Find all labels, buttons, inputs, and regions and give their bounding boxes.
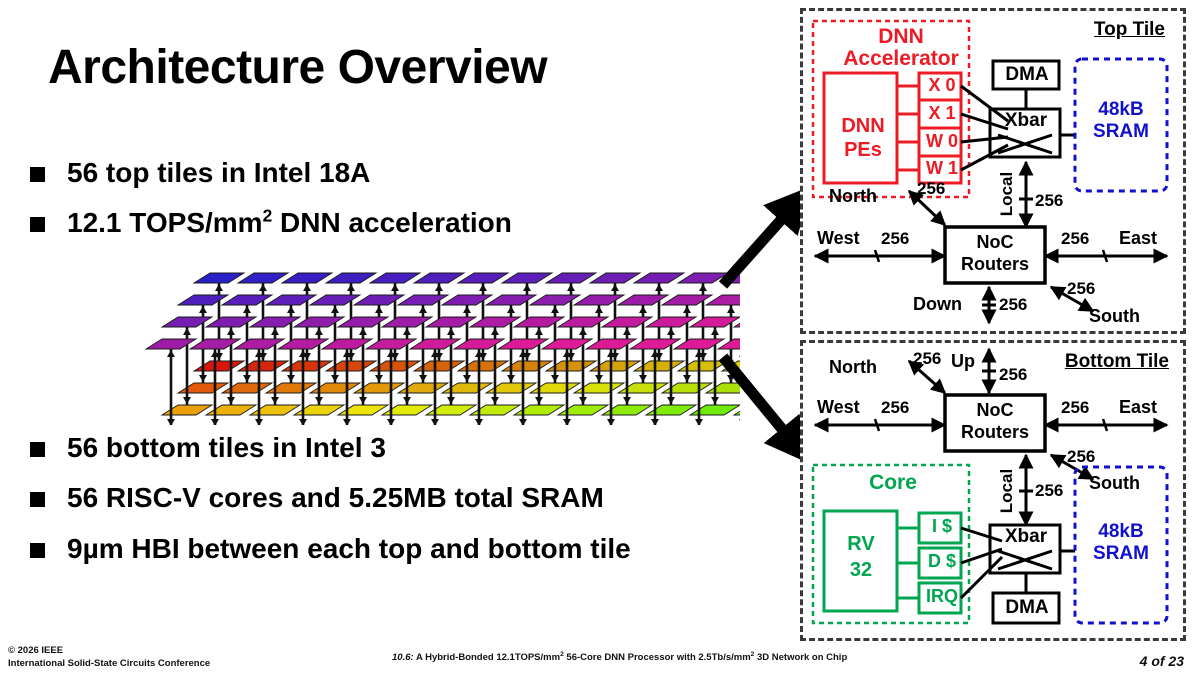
tile-array-illustration <box>60 265 740 425</box>
bullet-list-top: 56 top tiles in Intel 18A 12.1 TOPS/mm2 … <box>30 155 512 256</box>
hbi-arrowhead <box>595 375 603 382</box>
hbi-arrowhead <box>227 397 235 404</box>
hbi-arrowhead <box>167 419 175 425</box>
hbi-arrowhead <box>375 375 383 382</box>
hbi-arrowhead <box>623 328 631 335</box>
bullet-text: 12.1 TOPS/mm2 DNN acceleration <box>67 205 512 241</box>
top-tile-plate <box>586 339 636 349</box>
top-tile-plate <box>238 273 288 283</box>
top-tile-plate <box>442 295 492 305</box>
rv32-label-line2: 32 <box>825 559 897 582</box>
hbi-arrowhead <box>535 328 543 335</box>
hbi-arrowhead <box>331 375 339 382</box>
south-label: South <box>1089 473 1140 494</box>
hbi-arrowhead <box>623 397 631 404</box>
footer-copyright: © 2026 IEEE <box>8 645 210 658</box>
top-tile-plate <box>250 317 300 327</box>
dma-label: DMA <box>994 597 1060 619</box>
hbi-arrowhead <box>535 397 543 404</box>
footer-page-number: 4 of 23 <box>1140 653 1184 669</box>
hbi-arrowhead <box>359 328 367 335</box>
hbi-arrowhead <box>359 397 367 404</box>
hbi-arrowhead <box>303 284 311 291</box>
bottom-tile-plate <box>250 405 300 415</box>
hbi-arrowhead <box>387 419 395 425</box>
hbi-arrowhead <box>287 375 295 382</box>
bullet-text: 9µm HBI between each top and bottom tile <box>67 531 631 567</box>
top-tile-plate <box>194 273 244 283</box>
noc-routers-label-line2: Routers <box>945 254 1045 275</box>
top-tile-plate <box>178 295 228 305</box>
irq-label: IRQ <box>920 586 964 607</box>
top-tile-plate <box>278 339 328 349</box>
sram-label-line1: 48kB <box>1075 521 1167 543</box>
bottom-tile-plate <box>294 405 344 415</box>
hbi-arrowhead <box>667 397 675 404</box>
top-tile-plate <box>370 273 420 283</box>
top-tile-plate <box>498 339 548 349</box>
bullet-square-icon <box>30 167 45 182</box>
bullet-text: 56 RISC-V cores and 5.25MB total SRAM <box>67 480 604 516</box>
bottom-tile-plate <box>398 383 448 393</box>
hbi-arrowhead <box>667 328 675 335</box>
top-tile-plate <box>354 295 404 305</box>
hbi-arrowhead <box>215 284 223 291</box>
local-width-label: 256 <box>1035 191 1063 211</box>
bottom-tile-plate <box>238 361 288 371</box>
top-tile-plate <box>618 295 668 305</box>
sram-label-line2: SRAM <box>1075 121 1167 143</box>
bottom-tile-plate <box>382 405 432 415</box>
hbi-arrowhead <box>287 306 295 313</box>
icache-label: I $ <box>921 516 963 537</box>
top-tile-diagram: Top Tile DNN Accelerator DNN PEs X 0 X 1… <box>800 8 1186 334</box>
sram-label-line1: 48kB <box>1075 99 1167 121</box>
slide-root: Architecture Overview 56 top tiles in In… <box>0 0 1200 675</box>
top-tile-plate <box>470 317 520 327</box>
footer-paper-title-c: 3D Network on Chip <box>754 652 847 663</box>
hbi-arrowhead <box>507 306 515 313</box>
hbi-arrowhead <box>579 328 587 335</box>
xbar-label: Xbar <box>991 110 1061 132</box>
footer-paper-title: 10.6: A Hybrid-Bonded 12.1TOPS/mm2 56-Co… <box>392 651 847 663</box>
hbi-arrowhead <box>463 306 471 313</box>
hbi-arrowhead <box>519 419 527 425</box>
up-label: Up <box>951 351 975 372</box>
hbi-arrowhead <box>523 284 531 291</box>
down-label: Down <box>913 294 962 315</box>
top-tile-plate <box>206 317 256 327</box>
list-item: 9µm HBI between each top and bottom tile <box>30 531 631 567</box>
hbi-arrowhead <box>639 375 647 382</box>
dnn-pes-label-line2: PEs <box>825 139 901 162</box>
sram-label-line2: SRAM <box>1075 543 1167 565</box>
east-width-label: 256 <box>1061 229 1089 249</box>
west-width-label: 256 <box>881 398 909 418</box>
bottom-tile-plate <box>162 405 212 415</box>
top-tile-plate <box>282 273 332 283</box>
bottom-tile-plate <box>194 361 244 371</box>
top-tile-title: Top Tile <box>1094 19 1165 41</box>
top-tile-plate <box>294 317 344 327</box>
hbi-arrowhead <box>199 375 207 382</box>
hbi-arrowhead <box>447 397 455 404</box>
local-width-label: 256 <box>1035 481 1063 501</box>
top-tile-plate <box>546 273 596 283</box>
bottom-tile-plate <box>266 383 316 393</box>
south-width-label: 256 <box>1067 279 1095 299</box>
bottom-tile-title: Bottom Tile <box>1065 351 1169 373</box>
local-label: Local <box>997 164 1017 224</box>
hbi-arrowhead <box>243 375 251 382</box>
bottom-tile-plate <box>486 383 536 393</box>
top-tile-plate <box>162 317 212 327</box>
core-label: Core <box>833 471 953 495</box>
bottom-tile-plate <box>502 361 552 371</box>
xbar-label: Xbar <box>991 526 1061 548</box>
bottom-tile-plate <box>530 383 580 393</box>
local-label: Local <box>997 461 1017 521</box>
top-tile-plate <box>574 295 624 305</box>
south-width-label: 256 <box>1067 447 1095 467</box>
hbi-arrowhead <box>639 306 647 313</box>
bottom-tile-plate <box>222 383 272 393</box>
hbi-arrowhead <box>391 284 399 291</box>
bottom-tile-plate <box>354 383 404 393</box>
west-label: West <box>817 228 860 249</box>
top-tile-plate <box>602 317 652 327</box>
top-tile-plate <box>426 317 476 327</box>
buffer-label-w0: W 0 <box>921 131 963 152</box>
hbi-arrowhead <box>375 306 383 313</box>
bottom-tile-plate <box>646 405 696 415</box>
hbi-arrowhead <box>699 284 707 291</box>
hbi-arrowhead <box>611 284 619 291</box>
noc-routers-label-line2: Routers <box>945 422 1045 443</box>
top-tile-plate <box>398 295 448 305</box>
hbi-arrowhead <box>419 375 427 382</box>
hbi-arrowhead <box>551 375 559 382</box>
footer-conference: International Solid-State Circuits Confe… <box>8 658 210 671</box>
top-tile-plate <box>382 317 432 327</box>
rv32-label-line1: RV <box>825 533 897 556</box>
bottom-tile-plate <box>310 383 360 393</box>
top-tile-plate <box>630 339 680 349</box>
buffer-label-x1: X 1 <box>921 103 963 124</box>
bullet-square-icon <box>30 492 45 507</box>
bottom-tile-plate <box>602 405 652 415</box>
east-label: East <box>1119 397 1157 418</box>
bullet-square-icon <box>30 543 45 558</box>
list-item: 56 bottom tiles in Intel 3 <box>30 430 631 466</box>
bottom-tile-plate <box>206 405 256 415</box>
hbi-arrowhead <box>315 328 323 335</box>
arrow-to-bottom-tile <box>723 357 805 457</box>
top-tile-plate <box>326 273 376 283</box>
hbi-arrowhead <box>255 419 263 425</box>
dnn-accelerator-label-line1: DNN <box>831 25 971 49</box>
hbi-arrowhead <box>271 328 279 335</box>
footer-paper-title-a: A Hybrid-Bonded 12.1TOPS/mm <box>414 652 560 663</box>
bottom-tile-plate <box>558 405 608 415</box>
top-tile-plate <box>662 295 712 305</box>
hbi-arrowhead <box>651 419 659 425</box>
hbi-arrowhead <box>211 419 219 425</box>
hbi-arrowhead <box>183 397 191 404</box>
hbi-arrowhead <box>403 397 411 404</box>
top-tile-plate <box>410 339 460 349</box>
bullet-square-icon <box>30 442 45 457</box>
bullet-text: 56 bottom tiles in Intel 3 <box>67 430 386 466</box>
top-tile-plate <box>338 317 388 327</box>
hbi-arrowhead <box>167 350 175 357</box>
top-tile-plate <box>190 339 240 349</box>
bottom-tile-plate <box>338 405 388 415</box>
hbi-arrowhead <box>507 375 515 382</box>
west-width-label: 256 <box>881 229 909 249</box>
bottom-tile-plate <box>618 383 668 393</box>
hbi-arrowhead <box>567 284 575 291</box>
arrow-to-top-tile <box>723 193 805 285</box>
dcache-label: D $ <box>921 551 963 572</box>
top-tile-plate <box>514 317 564 327</box>
east-width-label: 256 <box>1061 398 1089 418</box>
hbi-arrowhead <box>695 419 703 425</box>
hbi-arrowhead <box>243 306 251 313</box>
hbi-arrowhead <box>447 328 455 335</box>
top-tile-plate <box>266 295 316 305</box>
east-label: East <box>1119 228 1157 249</box>
north-label: North <box>829 186 877 207</box>
hbi-arrowhead <box>331 306 339 313</box>
hbi-arrowhead <box>475 419 483 425</box>
hbi-arrowhead <box>299 419 307 425</box>
hbi-arrowhead <box>563 419 571 425</box>
bottom-tile-plate <box>574 383 624 393</box>
west-label: West <box>817 397 860 418</box>
bottom-tile-plate <box>546 361 596 371</box>
list-item: 12.1 TOPS/mm2 DNN acceleration <box>30 205 512 241</box>
hbi-arrowhead <box>683 375 691 382</box>
bottom-tile-plate <box>178 383 228 393</box>
dma-label: DMA <box>994 64 1060 86</box>
hbi-arrowhead <box>419 306 427 313</box>
bottom-tile-plate <box>634 361 684 371</box>
top-tile-plate <box>558 317 608 327</box>
hbi-arrowhead <box>183 328 191 335</box>
hbi-arrowhead <box>479 284 487 291</box>
bullet-list-bottom: 56 bottom tiles in Intel 3 56 RISC-V cor… <box>30 430 631 581</box>
hbi-arrowhead <box>579 397 587 404</box>
down-width-label: 256 <box>999 295 1027 315</box>
top-tile-plate <box>458 273 508 283</box>
dnn-pes-label-line1: DNN <box>825 115 901 138</box>
hbi-arrowhead <box>655 284 663 291</box>
list-item: 56 top tiles in Intel 18A <box>30 155 512 191</box>
top-tile-plate <box>634 273 684 283</box>
bottom-tile-plate <box>442 383 492 393</box>
footer-paper-title-b: 56-Core DNN Processor with 2.5Tb/s/mm <box>564 652 751 663</box>
top-tile-plate <box>366 339 416 349</box>
hbi-arrowhead <box>595 306 603 313</box>
hbi-arrowhead <box>403 328 411 335</box>
buffer-label-w1: W 1 <box>921 158 963 179</box>
bottom-tile-plate <box>458 361 508 371</box>
top-tile-plate <box>322 339 372 349</box>
hbi-arrowhead <box>347 284 355 291</box>
footer-copyright-block: © 2026 IEEE International Solid-State Ci… <box>8 645 210 671</box>
dnn-accelerator-label-line2: Accelerator <box>821 47 981 71</box>
bottom-tile-diagram: Bottom Tile NoC Routers Up 256 North 256… <box>800 340 1186 641</box>
hbi-arrowhead <box>607 419 615 425</box>
top-tile-plate <box>542 339 592 349</box>
bottom-tile-plate <box>470 405 520 415</box>
north-label: North <box>829 357 877 378</box>
buffer-label-x0: X 0 <box>921 75 963 96</box>
top-tile-plate <box>486 295 536 305</box>
north-width-label: 256 <box>917 179 945 199</box>
bottom-tile-plate <box>514 405 564 415</box>
hbi-arrowhead <box>491 328 499 335</box>
top-tile-plate <box>310 295 360 305</box>
bottom-tile-plate <box>326 361 376 371</box>
up-width-label: 256 <box>999 365 1027 385</box>
bottom-tile-plate <box>282 361 332 371</box>
bottom-tile-plate <box>662 383 712 393</box>
top-tile-plate <box>222 295 272 305</box>
hbi-arrowhead <box>227 328 235 335</box>
north-width-label: 256 <box>913 349 941 369</box>
top-tile-plate <box>502 273 552 283</box>
top-tile-plate <box>146 339 196 349</box>
top-tile-plate <box>646 317 696 327</box>
footer-paper-number: 10.6: <box>392 652 414 663</box>
bottom-tile-plate <box>426 405 476 415</box>
hbi-arrowhead <box>315 397 323 404</box>
hbi-arrowhead <box>435 284 443 291</box>
list-item: 56 RISC-V cores and 5.25MB total SRAM <box>30 480 631 516</box>
top-tile-plate <box>234 339 284 349</box>
bottom-tile-plate <box>590 361 640 371</box>
top-tile-plate <box>454 339 504 349</box>
hbi-arrowhead <box>683 306 691 313</box>
bullet-text: 56 top tiles in Intel 18A <box>67 155 370 191</box>
hbi-arrowhead <box>199 306 207 313</box>
hbi-arrowhead <box>491 397 499 404</box>
bottom-tile-plate <box>370 361 420 371</box>
bottom-tile-plate <box>414 361 464 371</box>
top-tile-plate <box>414 273 464 283</box>
noc-routers-label-line1: NoC <box>945 400 1045 421</box>
top-tile-plate <box>530 295 580 305</box>
hbi-arrowhead <box>551 306 559 313</box>
bullet-square-icon <box>30 217 45 232</box>
hbi-arrowhead <box>463 375 471 382</box>
hbi-arrowhead <box>343 419 351 425</box>
hbi-arrowhead <box>259 284 267 291</box>
hbi-arrowhead <box>431 419 439 425</box>
top-tile-plate <box>590 273 640 283</box>
noc-routers-label-line1: NoC <box>945 232 1045 253</box>
page-title: Architecture Overview <box>48 40 547 95</box>
hbi-arrowhead <box>271 397 279 404</box>
south-label: South <box>1089 306 1140 327</box>
